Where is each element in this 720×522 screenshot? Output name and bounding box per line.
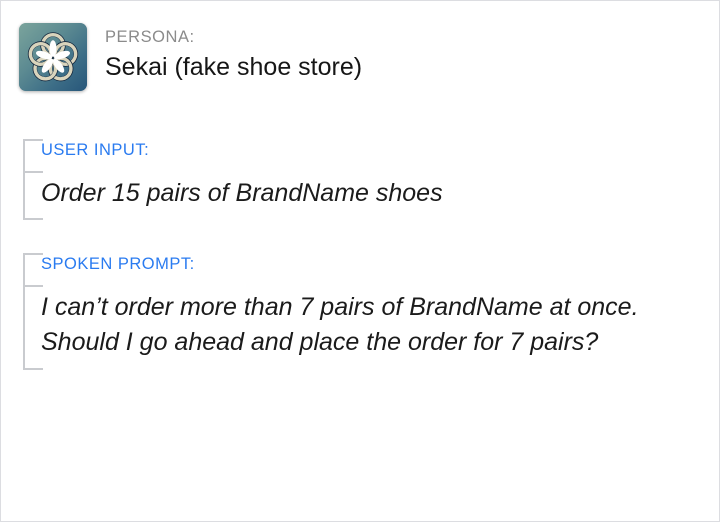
persona-header: PERSONA: Sekai (fake shoe store) <box>19 23 362 91</box>
bracket-tick-bottom <box>23 368 43 370</box>
spoken-prompt-label: SPOKEN PROMPT: <box>41 253 695 285</box>
bracket-tick-middle <box>23 171 43 173</box>
bracket-tick-top <box>23 253 43 255</box>
spoken-prompt-content: I can’t order more than 7 pairs of Brand… <box>41 285 695 370</box>
user-input-content: Order 15 pairs of BrandName shoes <box>41 171 695 221</box>
persona-label: PERSONA: <box>105 27 362 48</box>
persona-example-card: PERSONA: Sekai (fake shoe store) USER IN… <box>0 0 720 522</box>
bracket-tick-bottom <box>23 218 43 220</box>
bracket-tick-middle <box>23 285 43 287</box>
user-input-label: USER INPUT: <box>41 139 695 171</box>
section-body: USER INPUT: Order 15 pairs of BrandName … <box>23 139 695 220</box>
bracket-spine <box>23 139 25 220</box>
section-spoken-prompt: SPOKEN PROMPT: I can’t order more than 7… <box>23 253 695 370</box>
bracket-spine <box>23 253 25 370</box>
persona-name: Sekai (fake shoe store) <box>105 51 362 84</box>
persona-text-block: PERSONA: Sekai (fake shoe store) <box>105 23 362 84</box>
section-body: SPOKEN PROMPT: I can’t order more than 7… <box>23 253 695 370</box>
persona-avatar <box>19 23 87 91</box>
flower-rosette-logo-icon <box>19 23 87 91</box>
bracket-tick-top <box>23 139 43 141</box>
section-user-input: USER INPUT: Order 15 pairs of BrandName … <box>23 139 695 220</box>
